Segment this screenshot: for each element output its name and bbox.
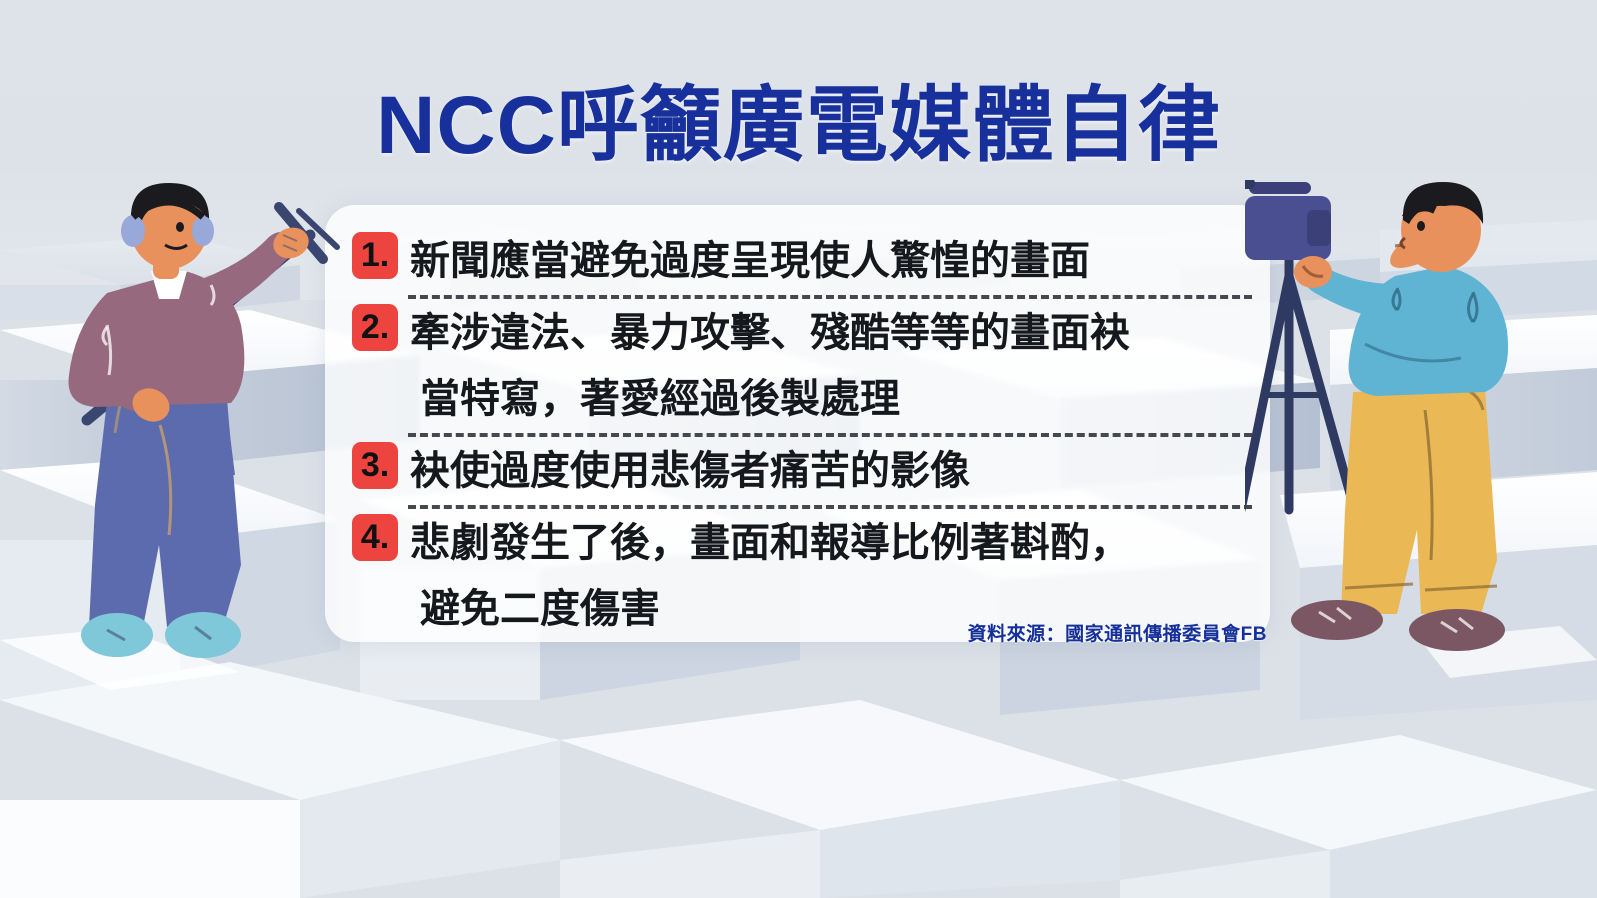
item-text: 新聞應當避免過度呈現使人驚惶的畫面 (410, 228, 1090, 294)
item-line: 新聞應當避免過度呈現使人驚惶的畫面 (410, 239, 1090, 283)
item-line: 當特寫，著愛經過後製處理 (410, 366, 1130, 432)
item-text: 牽涉違法、暴力攻擊、殘酷等等的畫面袂 當特寫，著愛經過後製處理 (410, 300, 1130, 432)
eye (1417, 221, 1425, 231)
illustration-boom-mic-operator (55, 175, 375, 665)
list-item: 2. 牽涉違法、暴力攻擊、殘酷等等的畫面袂 當特寫，著愛經過後製處理 (352, 300, 1252, 432)
headphone-right (192, 216, 214, 246)
illustration-camera-operator (1245, 180, 1597, 665)
item-text: 袂使過度使用悲傷者痛苦的影像 (410, 438, 970, 504)
item-number-badge: 1. (352, 232, 398, 279)
shoe-right (165, 612, 241, 658)
broadcast-graphic: NCC呼籲廣電媒體自律 1. 新聞應當避免過度呈現使人驚惶的畫面 2. 牽涉違法… (0, 0, 1597, 898)
list-divider (408, 505, 1252, 509)
item-line: 牽涉違法、暴力攻擊、殘酷等等的畫面袂 (410, 311, 1130, 355)
item-number-badge: 3. (352, 442, 398, 489)
item-number-badge: 4. (352, 514, 398, 561)
video-camera-icon (1245, 180, 1331, 260)
shoe-right (1409, 609, 1505, 651)
item-number-badge: 2. (352, 304, 398, 351)
list-item: 3. 袂使過度使用悲傷者痛苦的影像 (352, 438, 1252, 504)
item-line: 悲劇發生了後，畫面和報導比例著斟酌， (410, 521, 1130, 565)
shoe-left (1291, 600, 1383, 640)
pants (1341, 388, 1497, 614)
list-item: 1. 新聞應當避免過度呈現使人驚惶的畫面 (352, 228, 1252, 294)
item-line: 袂使過度使用悲傷者痛苦的影像 (410, 449, 970, 493)
page-title: NCC呼籲廣電媒體自律 (0, 78, 1597, 174)
list-divider (408, 295, 1252, 299)
hand-on-camera (1294, 256, 1332, 288)
source-credit: 資料來源：國家通訊傳播委員會FB (968, 619, 1267, 646)
headphone-left (121, 215, 145, 247)
list-divider (408, 433, 1252, 437)
eye (176, 222, 184, 232)
guidelines-list: 1. 新聞應當避免過度呈現使人驚惶的畫面 2. 牽涉違法、暴力攻擊、殘酷等等的畫… (352, 228, 1252, 642)
